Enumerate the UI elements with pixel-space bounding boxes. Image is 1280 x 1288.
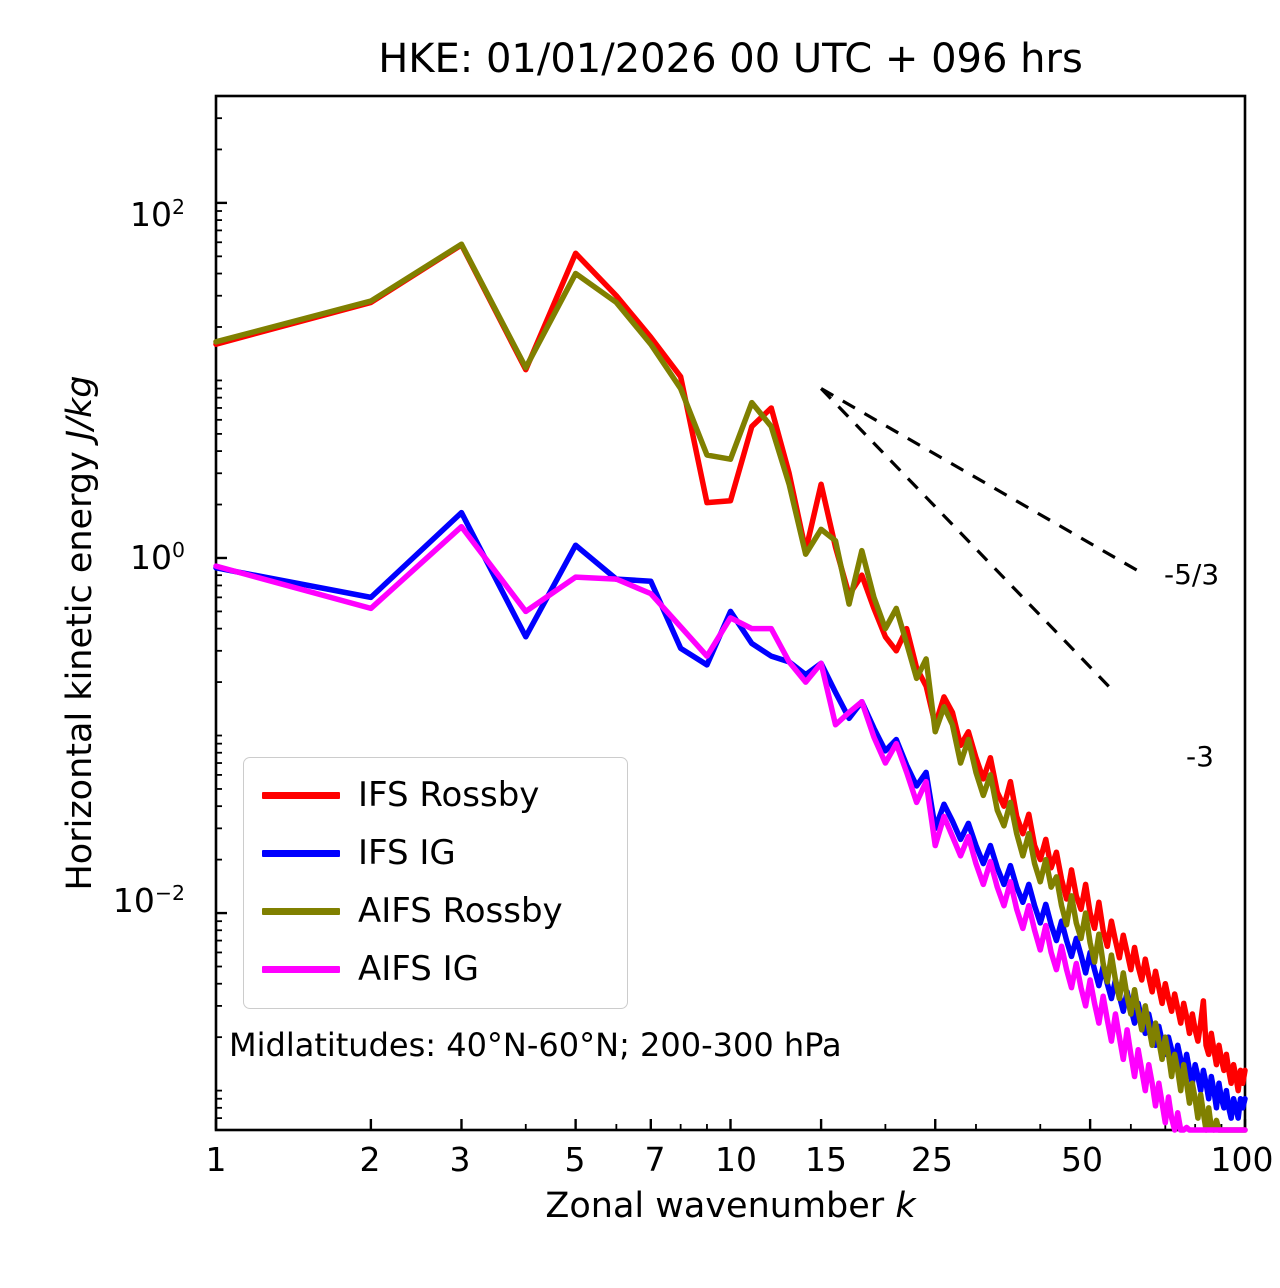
legend-label-ifs-rossby: IFS Rossby — [358, 778, 539, 812]
reference-line--3 — [821, 389, 1115, 694]
ytick-label-1e-2: 10−2 — [48, 881, 185, 920]
legend-swatch-aifs-ig — [262, 966, 340, 973]
legend-swatch-ifs-rossby — [262, 792, 340, 799]
xtick-label-10: 10 — [700, 1140, 772, 1179]
plot-area — [0, 0, 1280, 1288]
legend-item-ifs-ig[interactable]: IFS IG — [262, 824, 456, 882]
legend-item-aifs-ig[interactable]: AIFS IG — [262, 940, 479, 998]
ytick-label-1e0: 100 — [60, 538, 185, 577]
xtick-label-2: 2 — [340, 1140, 400, 1179]
xtick-label-1: 1 — [186, 1140, 246, 1179]
figure-canvas: HKE: 01/01/2026 00 UTC + 096 hrs Horizon… — [0, 0, 1280, 1288]
reference-line--5-3 — [821, 389, 1138, 571]
region-annotation: Midlatitudes: 40°N-60°N; 200-300 hPa — [229, 1026, 842, 1064]
legend-label-aifs-rossby: AIFS Rossby — [358, 894, 563, 928]
legend-swatch-aifs-rossby — [262, 908, 340, 915]
legend-label-ifs-ig: IFS IG — [358, 836, 456, 870]
xtick-label-3: 3 — [430, 1140, 490, 1179]
legend: IFS Rossby IFS IG AIFS Rossby AIFS IG — [243, 757, 628, 1009]
xtick-label-15: 15 — [790, 1140, 862, 1179]
ytick-label-1e2: 102 — [60, 195, 185, 234]
reference-slope-lines — [821, 389, 1138, 694]
legend-item-aifs-rossby[interactable]: AIFS Rossby — [262, 882, 563, 940]
xtick-label-5: 5 — [545, 1140, 605, 1179]
xtick-label-7: 7 — [625, 1140, 685, 1179]
slope-label-five-thirds: -5/3 — [1164, 558, 1219, 591]
xtick-label-100: 100 — [1194, 1140, 1280, 1179]
xtick-label-25: 25 — [896, 1140, 968, 1179]
legend-swatch-ifs-ig — [262, 850, 340, 857]
legend-item-ifs-rossby[interactable]: IFS Rossby — [262, 766, 539, 824]
legend-label-aifs-ig: AIFS IG — [358, 952, 479, 986]
slope-label-three: -3 — [1186, 740, 1214, 773]
xtick-label-50: 50 — [1046, 1140, 1118, 1179]
